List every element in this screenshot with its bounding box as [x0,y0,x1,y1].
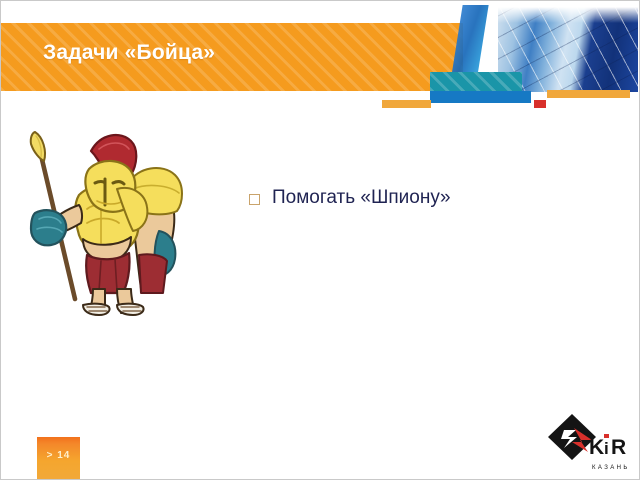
page-number-label: > 14 [37,450,80,461]
decorative-blue-box [430,91,531,103]
svg-text:K: K [589,436,604,459]
bullet-square-icon [249,194,260,205]
spartan-warrior-illustration [13,127,199,317]
bullet-text: Помогать «Шпиону» [272,187,451,210]
svg-text:R: R [611,436,626,459]
decorative-orange-bar-left [382,100,431,108]
svg-text:i: i [604,439,609,458]
decorative-orange-bar-right [547,90,630,98]
kir-kazan-logo: K i R КАЗАНЬ [544,410,636,476]
decorative-red-square [534,100,546,108]
page-title: Задачи «Бойца» [43,41,215,65]
photo-top-fade [498,7,638,23]
list-item: Помогать «Шпиону» [249,187,609,210]
page-number-badge: > 14 [37,437,80,480]
svg-text:КАЗАНЬ: КАЗАНЬ [592,465,630,471]
slide-canvas: Задачи «Бойца» [0,0,640,480]
slide-header: Задачи «Бойца» [1,1,640,119]
decorative-teal-box [430,72,522,91]
bullet-list: Помогать «Шпиону» [249,187,609,210]
